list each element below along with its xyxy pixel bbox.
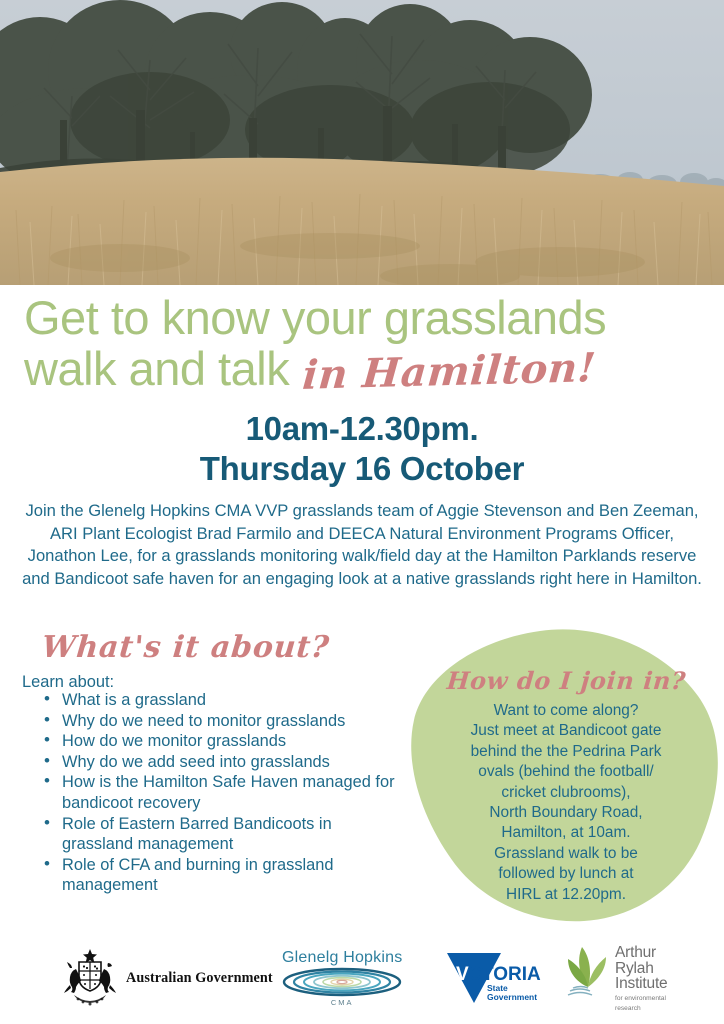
list-item: Role of CFA and burning in grassland man… (40, 855, 400, 896)
ari-line-1: Arthur (615, 945, 667, 961)
event-date: Thursday 16 October (0, 449, 724, 489)
join-in-content: How do I join in? Want to come along? Ju… (428, 666, 704, 905)
page-title: Get to know your grasslands walk and tal… (0, 292, 724, 397)
victoria-state-government-logo: ICTORIA ICTORIA State Government V (443, 932, 551, 1024)
headline-line-2: walk and talk (24, 343, 289, 394)
list-item: What is a grassland (40, 690, 400, 711)
ari-line-2: Rylah (615, 961, 667, 977)
svg-text:Government: Government (487, 992, 537, 1002)
list-item: Role of Eastern Barred Bandicoots in gra… (40, 814, 400, 855)
coat-of-arms-icon (62, 947, 118, 1009)
ari-line-3: Institute (615, 976, 667, 992)
list-item: Why do we need to monitor grasslands (40, 711, 400, 732)
water-ripple-icon (282, 967, 402, 997)
glenelg-hopkins-sub: CMA (331, 998, 354, 1007)
join-in-title: How do I join in? (445, 666, 686, 695)
arthur-rylah-institute-logo: Arthur Rylah Institute for environmental… (566, 932, 667, 1024)
headline-line-1: Get to know your grasslands (24, 292, 724, 343)
victoria-triangle-icon: ICTORIA ICTORIA State Government V (443, 949, 551, 1007)
svg-text:V: V (456, 964, 469, 985)
ari-sub-line-1: for environmental (615, 995, 667, 1003)
event-datetime: 10am-12.30pm. Thursday 16 October (0, 409, 724, 489)
glenelg-hopkins-logo: Glenelg Hopkins CMA (282, 932, 402, 1024)
intro-paragraph: Join the Glenelg Hopkins CMA VVP grassla… (14, 500, 710, 590)
about-title: What's it about? (40, 630, 331, 665)
logo-footer: Australian Government Glenelg Hopkins CM… (0, 932, 724, 1024)
event-time: 10am-12.30pm. (0, 409, 724, 449)
join-in-body: Want to come along? Just meet at Bandico… (428, 701, 704, 905)
headline-script-accent: in Hamilton! (301, 342, 598, 401)
ari-sub-line-2: research (615, 1005, 667, 1013)
about-list: What is a grassland Why do we need to mo… (40, 690, 400, 896)
glenelg-hopkins-label: Glenelg Hopkins (282, 949, 402, 967)
hero-photo-illustration (0, 0, 724, 285)
australian-government-label: Australian Government (126, 970, 273, 987)
australian-government-logo: Australian Government (62, 932, 273, 1024)
list-item: Why do we add seed into grasslands (40, 752, 400, 773)
list-item: How do we monitor grasslands (40, 731, 400, 752)
headline-line-2-row: walk and talk in Hamilton! (24, 343, 724, 397)
hero-photo (0, 0, 724, 285)
list-item: How is the Hamilton Safe Haven managed f… (40, 772, 400, 813)
leaf-icon (566, 943, 610, 999)
